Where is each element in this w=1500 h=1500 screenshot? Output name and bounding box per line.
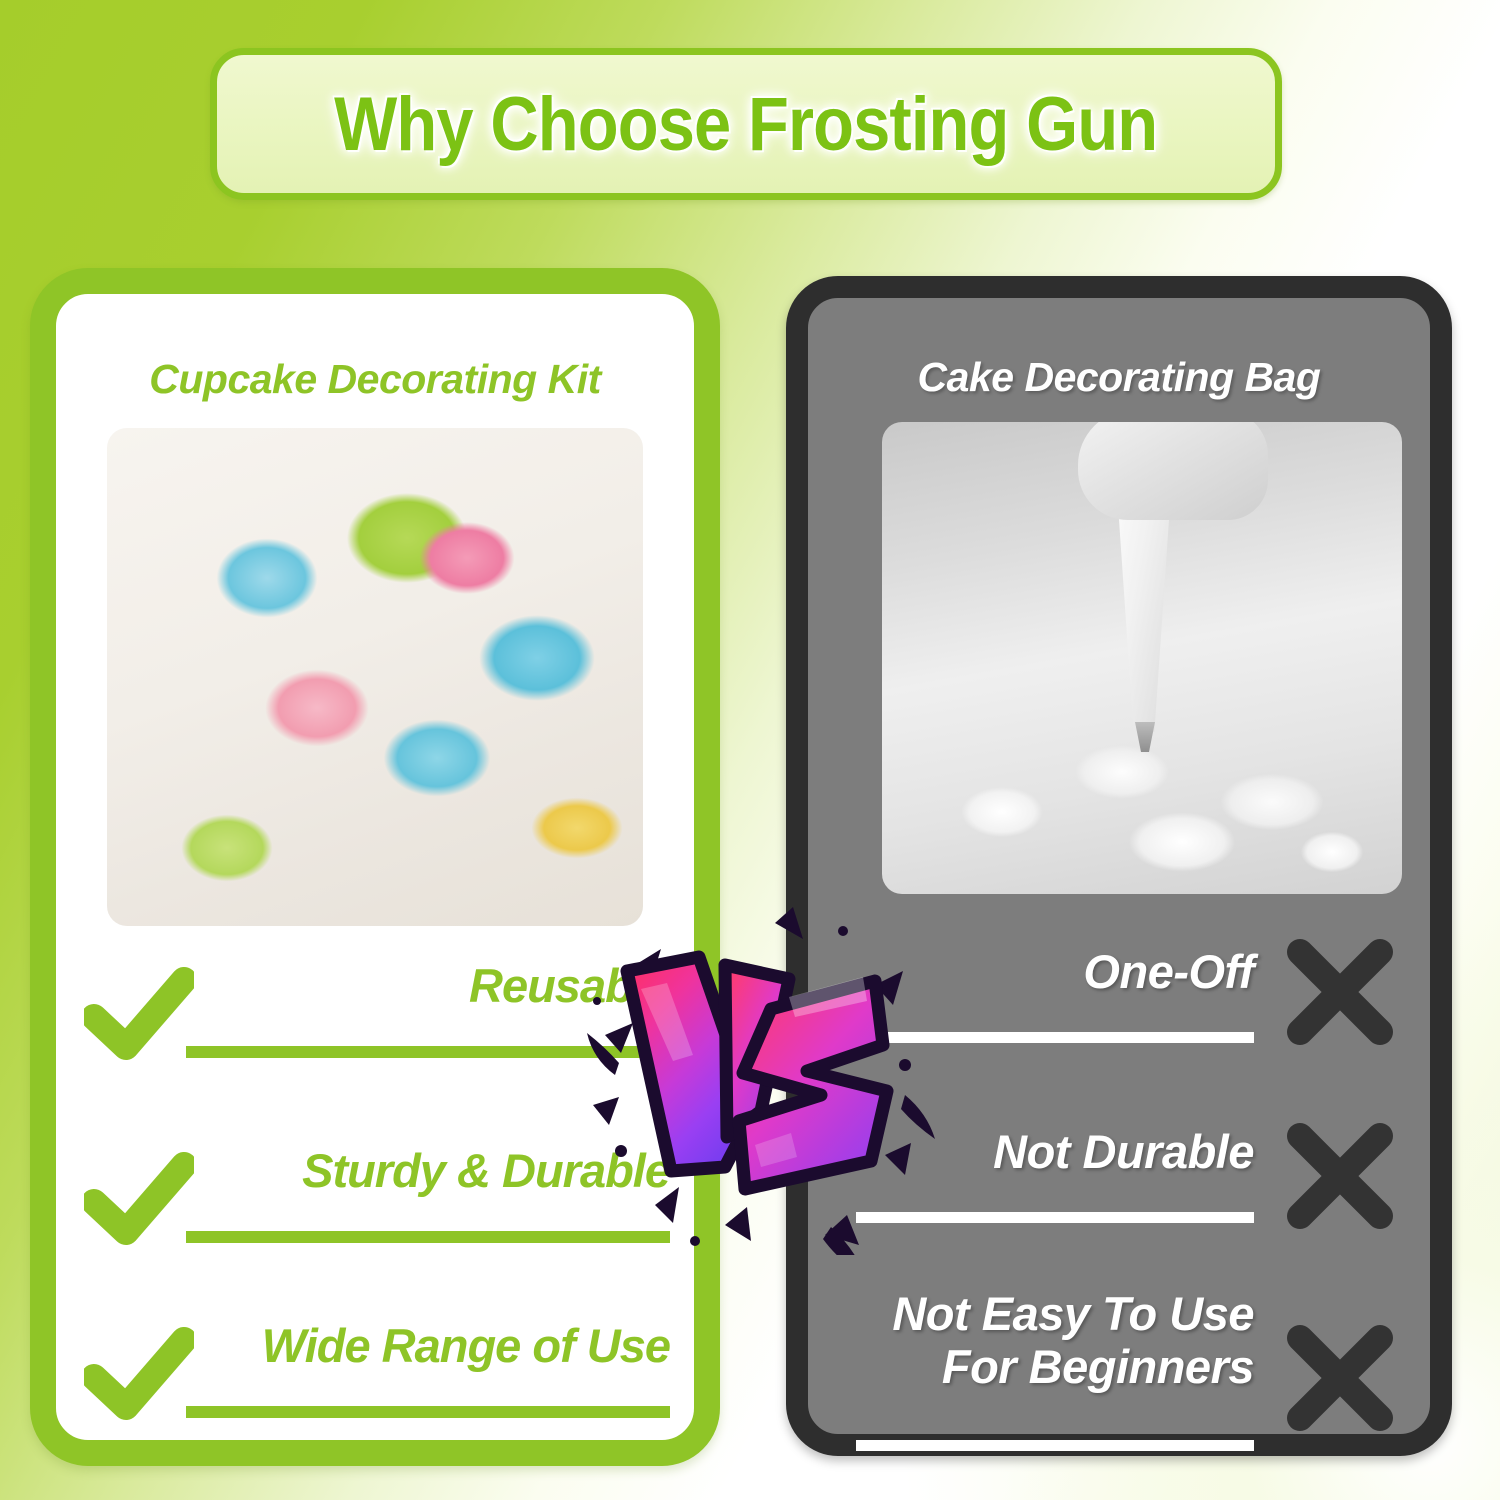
page-title: Why Choose Frosting Gun bbox=[334, 81, 1157, 168]
cupcake-photo bbox=[107, 428, 643, 926]
check-icon bbox=[84, 1322, 194, 1422]
right-feature-label-multiline: Not Easy To Use For Beginners bbox=[848, 1288, 1254, 1393]
x-icon bbox=[1280, 1116, 1400, 1236]
check-icon bbox=[84, 1147, 194, 1247]
right-feature-underline bbox=[856, 1440, 1254, 1451]
left-feature-row: Sturdy & Durable bbox=[56, 1139, 694, 1289]
right-feature-label: One-Off bbox=[848, 946, 1254, 999]
right-feature-underline bbox=[856, 1212, 1254, 1223]
left-product-card: Cupcake Decorating Kit Reusable bbox=[30, 268, 720, 1466]
left-feature-underline bbox=[186, 1231, 670, 1243]
left-feature-underline bbox=[186, 1046, 670, 1058]
left-feature-row: Reusable bbox=[56, 954, 694, 1104]
left-feature-underline bbox=[186, 1406, 670, 1418]
right-feature-row: One-Off bbox=[808, 946, 1430, 1096]
right-card-title: Cake Decorating Bag bbox=[808, 354, 1430, 401]
right-feature-label: Not Durable bbox=[848, 1126, 1254, 1179]
right-feature-row: Not Easy To Use For Beginners bbox=[808, 1288, 1430, 1488]
left-feature-row: Wide Range of Use bbox=[56, 1314, 694, 1464]
left-feature-label: Sturdy & Durable bbox=[206, 1143, 670, 1198]
right-feature-row: Not Durable bbox=[808, 1126, 1430, 1276]
check-icon bbox=[84, 962, 194, 1062]
right-feature-label-line2: For Beginners bbox=[848, 1341, 1254, 1394]
right-product-card: Cake Decorating Bag One-Off Not Durable bbox=[786, 276, 1452, 1456]
x-icon bbox=[1280, 1318, 1400, 1438]
hand-shape bbox=[1078, 422, 1268, 520]
left-card-title: Cupcake Decorating Kit bbox=[56, 356, 694, 403]
left-feature-label: Wide Range of Use bbox=[206, 1318, 670, 1373]
right-feature-underline bbox=[856, 1032, 1254, 1043]
left-feature-label: Reusable bbox=[206, 958, 670, 1013]
x-icon bbox=[1280, 932, 1400, 1052]
header-banner: Why Choose Frosting Gun bbox=[210, 48, 1282, 200]
infographic-root: Why Choose Frosting Gun Cupcake Decorati… bbox=[0, 0, 1500, 1500]
piping-bag-photo bbox=[882, 422, 1402, 894]
right-feature-label-line1: Not Easy To Use bbox=[848, 1288, 1254, 1341]
